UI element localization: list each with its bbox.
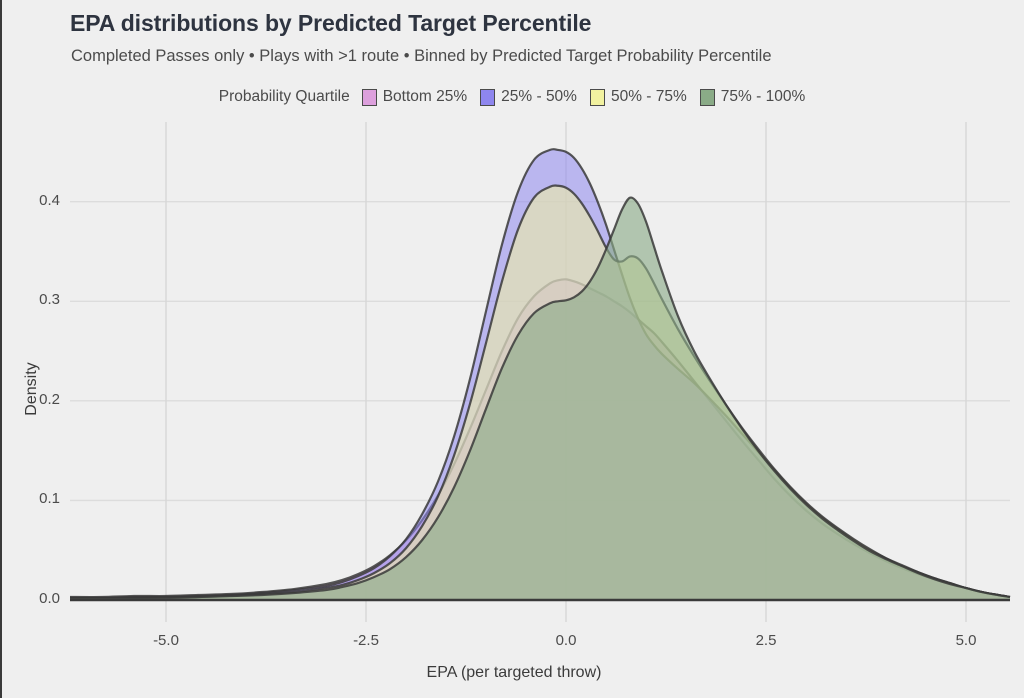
chart-root: EPA distributions by Predicted Target Pe… [2, 0, 1024, 698]
y-tick-label: 0.4 [10, 192, 60, 209]
x-tick-label: -5.0 [131, 632, 201, 649]
y-tick-label: 0.1 [10, 490, 60, 507]
y-axis-label: Density [23, 339, 41, 439]
y-tick-label: 0.0 [10, 590, 60, 607]
x-tick-label: -2.5 [331, 632, 401, 649]
x-axis-label: EPA (per targeted throw) [2, 664, 1024, 682]
density-plot [2, 0, 1024, 698]
x-tick-label: 2.5 [731, 632, 801, 649]
x-tick-label: 5.0 [931, 632, 1001, 649]
x-tick-label: 0.0 [531, 632, 601, 649]
y-tick-label: 0.3 [10, 291, 60, 308]
y-tick-label: 0.2 [10, 391, 60, 408]
